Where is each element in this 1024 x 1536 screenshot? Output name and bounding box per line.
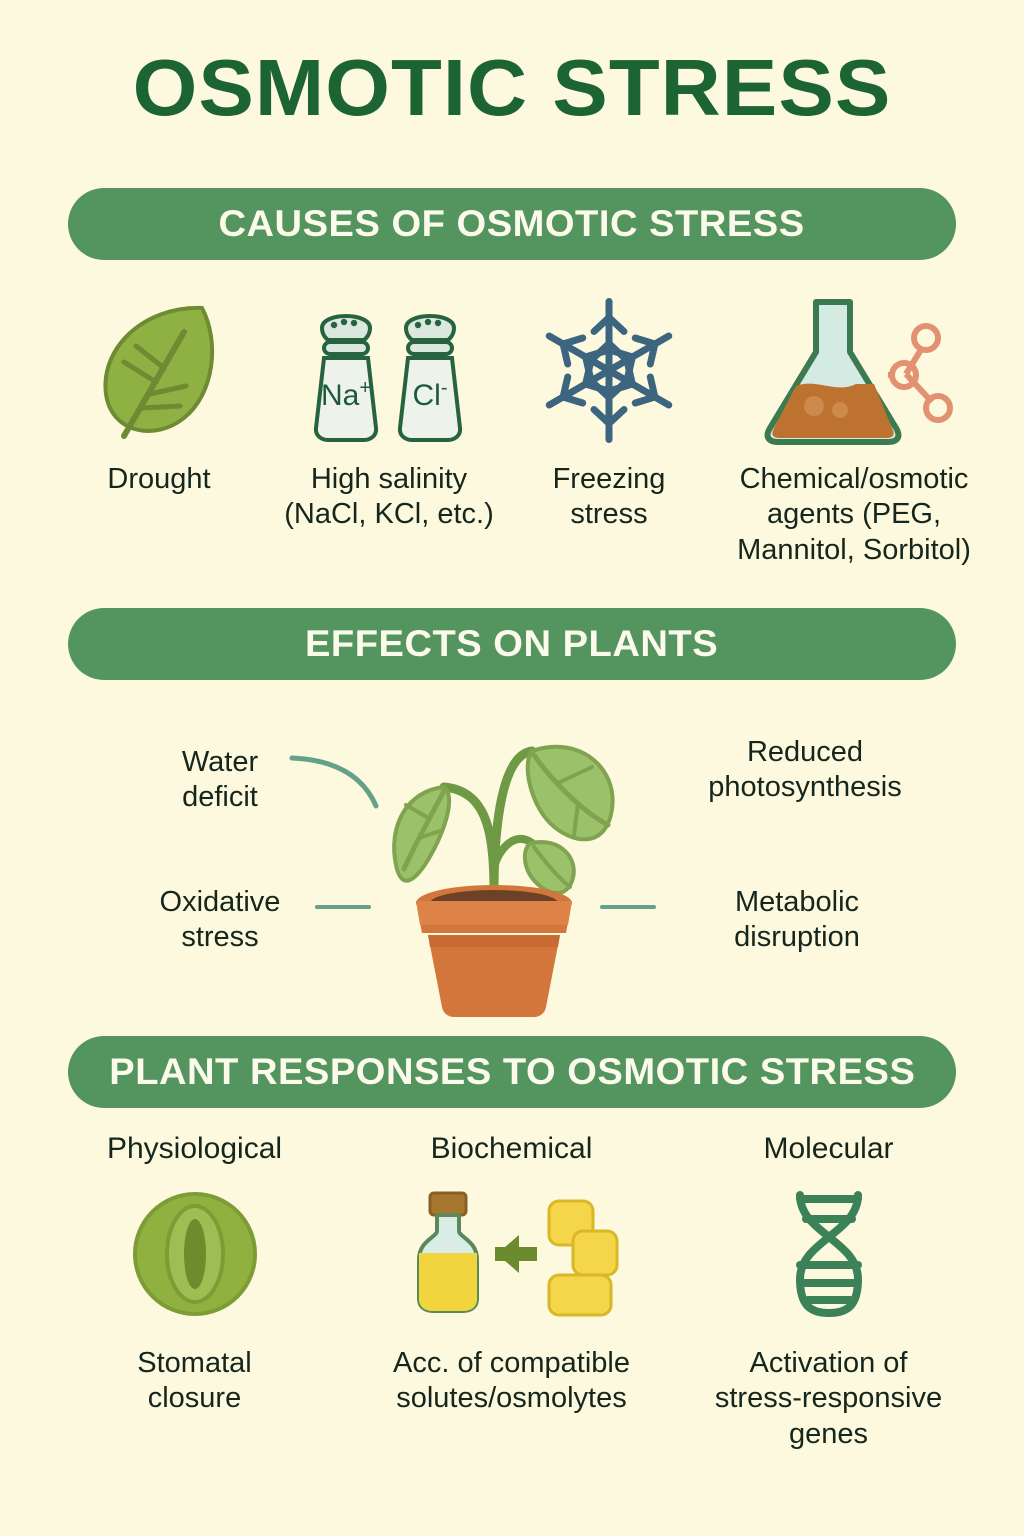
- stoma-icon: [130, 1180, 260, 1328]
- effect-label-reduced-photosynthesis: Reducedphotosynthesis: [665, 735, 945, 806]
- snowflake-icon: [534, 290, 684, 450]
- cause-item-freezing: Freezingstress: [514, 290, 704, 533]
- cause-item-high-salinity: Na+ Cl- High salinity(NaCl, KCl,: [264, 290, 514, 533]
- cause-label-chemical-agents: Chemical/osmoticagents (PEG,Mannitol, So…: [737, 462, 971, 568]
- response-label-stomatal-closure: Stomatalclosure: [137, 1346, 251, 1417]
- section-banner-causes: CAUSES OF OSMOTIC STRESS: [68, 188, 956, 260]
- effect-label-oxidative-stress: Oxidativestress: [120, 885, 320, 956]
- bottle-solutes-icon: [397, 1180, 627, 1328]
- response-label-compatible-solutes: Acc. of compatiblesolutes/osmolytes: [393, 1346, 630, 1417]
- cause-item-drought: Drought: [54, 290, 264, 497]
- leaf-icon: [84, 290, 234, 450]
- response-heading-biochemical: Biochemical: [431, 1132, 593, 1166]
- connector-line-oxidative: [315, 905, 371, 909]
- effect-label-water-deficit: Waterdeficit: [140, 745, 300, 816]
- page-title: OSMOTIC STRESS: [0, 42, 1024, 134]
- salt-shaker-icon: Na+ Cl-: [294, 290, 484, 450]
- section-banner-responses: PLANT RESPONSES TO OSMOTIC STRESS: [68, 1036, 956, 1108]
- infographic-page: OSMOTIC STRESS CAUSES OF OSMOTIC STRESS …: [0, 0, 1024, 1536]
- response-heading-physiological: Physiological: [107, 1132, 282, 1166]
- responses-row: Physiological Stomatalclosure Biochemica…: [36, 1132, 988, 1452]
- wilting-plant-illustration: [382, 695, 642, 1025]
- response-item-biochemical: Biochemical: [353, 1132, 670, 1417]
- cause-label-freezing: Freezingstress: [553, 462, 666, 533]
- cause-label-drought: Drought: [107, 462, 210, 497]
- response-heading-molecular: Molecular: [763, 1132, 893, 1166]
- banner-label-effects: EFFECTS ON PLANTS: [305, 623, 718, 665]
- causes-row: Drought Na+: [54, 290, 1004, 568]
- effects-area: Waterdeficit Reducedphotosynthesis Oxida…: [0, 690, 1024, 1040]
- response-item-molecular: Molecular Activation ofstress-responsive: [670, 1132, 987, 1452]
- effect-label-metabolic-disruption: Metabolicdisruption: [672, 885, 922, 956]
- banner-label-responses: PLANT RESPONSES TO OSMOTIC STRESS: [109, 1051, 915, 1093]
- cause-label-high-salinity: High salinity(NaCl, KCl, etc.): [284, 462, 493, 533]
- response-item-physiological: Physiological Stomatalclosure: [36, 1132, 353, 1417]
- response-label-stress-responsive-genes: Activation ofstress-responsivegenes: [715, 1346, 942, 1452]
- dna-icon: [774, 1180, 884, 1328]
- cause-item-chemical-agents: Chemical/osmoticagents (PEG,Mannitol, So…: [704, 290, 1004, 568]
- banner-label-causes: CAUSES OF OSMOTIC STRESS: [219, 203, 805, 245]
- section-banner-effects: EFFECTS ON PLANTS: [68, 608, 956, 680]
- flask-icon: [754, 290, 954, 450]
